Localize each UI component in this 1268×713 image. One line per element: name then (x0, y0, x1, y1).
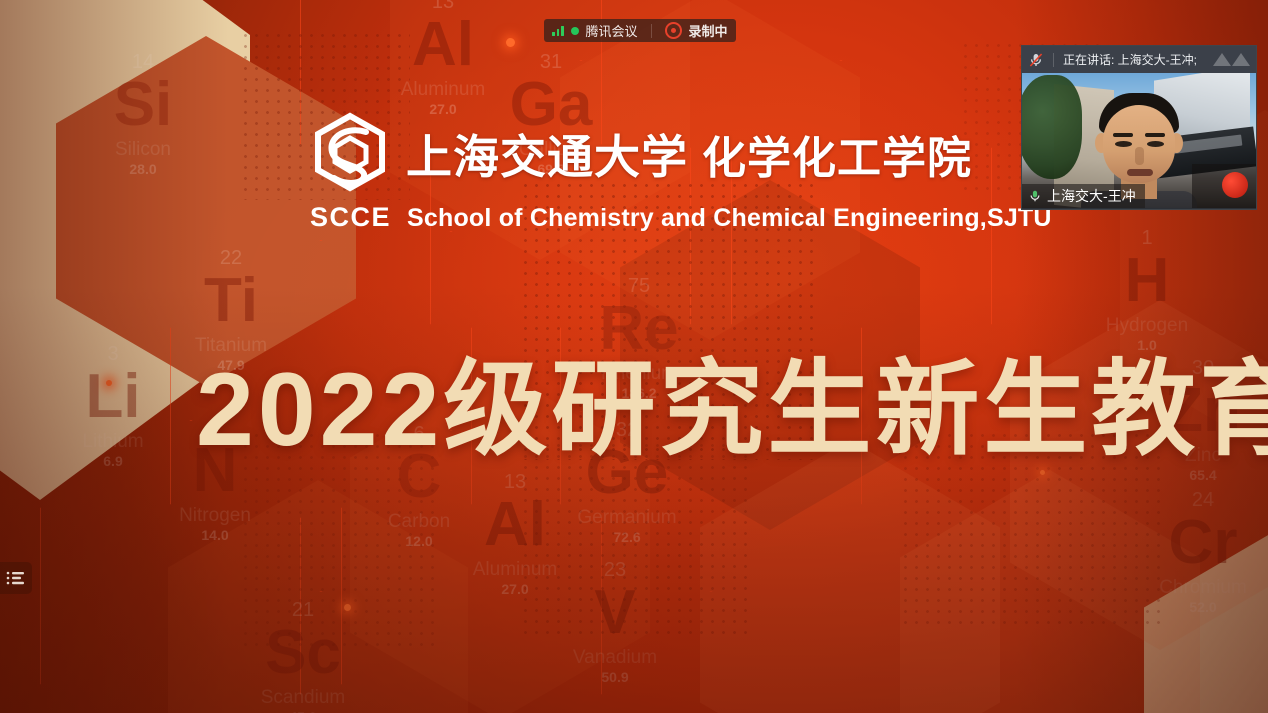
divider (651, 24, 652, 38)
record-circle-icon[interactable] (665, 22, 682, 39)
chevron-up-icon[interactable] (1213, 53, 1250, 66)
list-menu-icon[interactable] (0, 562, 32, 594)
divider (1053, 53, 1054, 67)
meeting-screen-share-view: 14 Si Silicon 28.0 13 Al Aluminum 27.0 3… (0, 0, 1268, 713)
scce-abbreviation: SCCE (310, 202, 391, 233)
video-tile-header: 正在讲话: 上海交大-王冲; (1022, 46, 1256, 73)
university-name-cn: 上海交通大学 (406, 121, 688, 187)
participant-name-badge: 上海交大-王冲 (1022, 184, 1145, 208)
slide-main-title: 2022级研究生新生教育 (196, 324, 1116, 475)
video-feed: 上海交大-王冲 (1022, 73, 1256, 208)
meeting-status-bar[interactable]: 腾讯会议 录制中 (544, 19, 736, 42)
meeting-app-name: 腾讯会议 (586, 21, 638, 40)
microphone-icon (1028, 189, 1042, 203)
participant-video-tile[interactable]: 正在讲话: 上海交大-王冲; (1021, 45, 1257, 210)
scce-logo-block: 上海交通大学 化学化工学院 SCCE School of Chemistry a… (308, 112, 1052, 233)
signal-bars-icon (552, 25, 564, 36)
speaking-status-label: 正在讲话: 上海交大-王冲; (1063, 51, 1197, 68)
recording-label: 录制中 (689, 21, 728, 40)
microphone-muted-icon[interactable] (1028, 52, 1044, 68)
scce-hexagon-logo-icon (308, 112, 392, 196)
green-status-dot-icon (571, 27, 579, 35)
participant-name: 上海交大-王冲 (1047, 186, 1136, 206)
school-name-en: School of Chemistry and Chemical Enginee… (407, 204, 1052, 233)
school-name-cn: 化学化工学院 (702, 122, 972, 186)
